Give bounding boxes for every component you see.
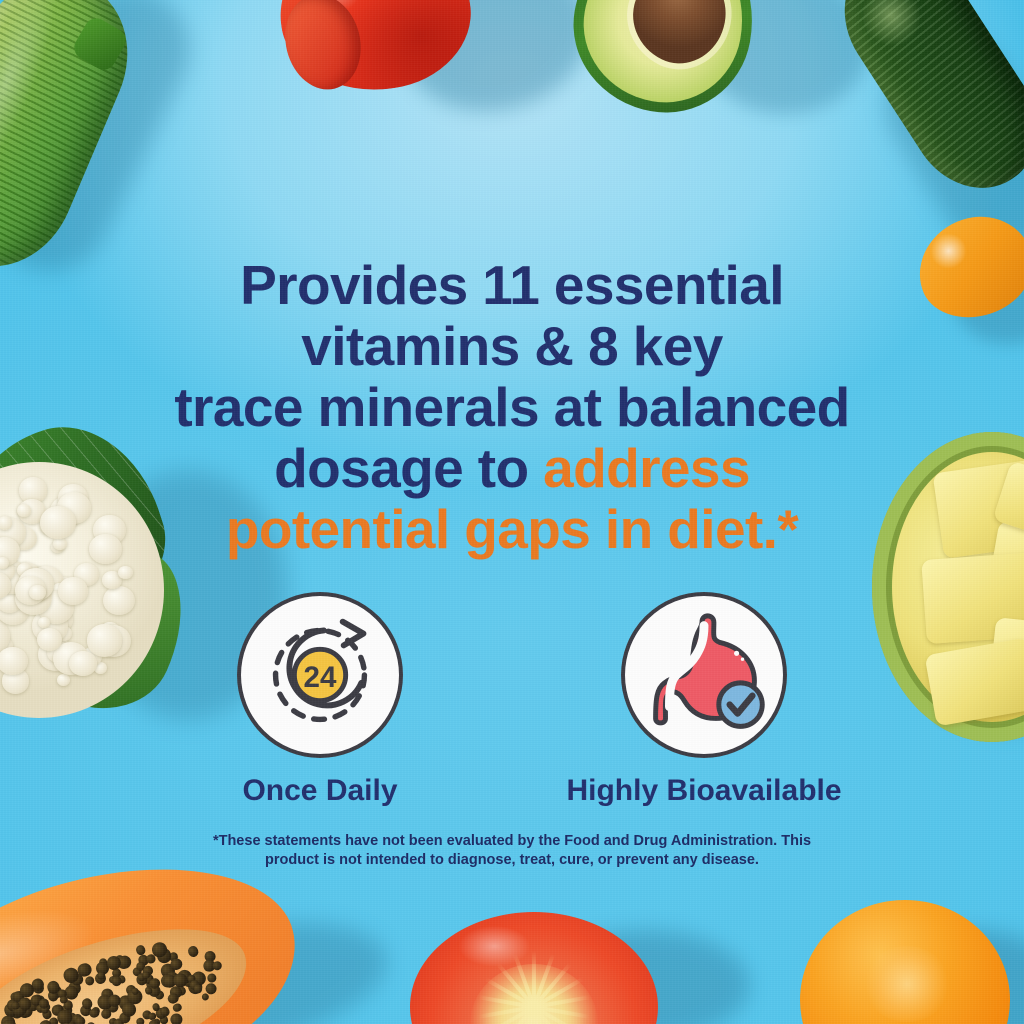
papaya-seed-cavity xyxy=(0,900,264,1024)
orange-image xyxy=(800,900,1010,1024)
cauliflower-floret xyxy=(118,566,133,579)
headline-line-3: trace minerals at balanced xyxy=(40,377,984,438)
avocado-half-image xyxy=(560,0,768,126)
papaya-seed xyxy=(206,973,217,984)
stomach-check-icon xyxy=(625,596,783,754)
clock-24-badge: 24 xyxy=(237,592,403,758)
headline-line-4: dosage to address xyxy=(40,438,984,499)
feature-row: 24 Once Daily xyxy=(0,592,1024,808)
feature-once-daily[interactable]: 24 Once Daily xyxy=(220,592,420,808)
headline-line-2: vitamins & 8 key xyxy=(40,316,984,377)
papaya-seed xyxy=(186,945,199,958)
papaya-seed xyxy=(84,975,95,986)
headline-line-4-plain: dosage to xyxy=(274,437,543,499)
papaya-seed xyxy=(168,1012,183,1024)
stomach-check-badge xyxy=(621,592,787,758)
orange-navel xyxy=(864,946,950,1022)
disclaimer: *These statements have not been evaluate… xyxy=(0,832,1024,870)
headline: Provides 11 essential vitamins & 8 key t… xyxy=(0,255,1024,560)
clock-24-icon: 24 xyxy=(241,596,399,754)
feature-label-highly-bioavailable: Highly Bioavailable xyxy=(566,774,841,808)
headline-line-1: Provides 11 essential xyxy=(40,255,984,316)
headline-line-5: potential gaps in diet.* xyxy=(40,499,984,560)
disclaimer-line-2: intended to diagnose, treat, cure, or pr… xyxy=(366,852,759,868)
feature-label-once-daily: Once Daily xyxy=(242,774,397,808)
promo-graphic: Provides 11 essential vitamins & 8 key t… xyxy=(0,0,1024,1024)
feature-highly-bioavailable[interactable]: Highly Bioavailable xyxy=(604,592,804,808)
headline-line-4-accent: address xyxy=(543,437,750,499)
clock-24-number: 24 xyxy=(304,661,337,694)
papaya-seed xyxy=(172,1002,183,1013)
tomato-half-image xyxy=(410,912,658,1024)
